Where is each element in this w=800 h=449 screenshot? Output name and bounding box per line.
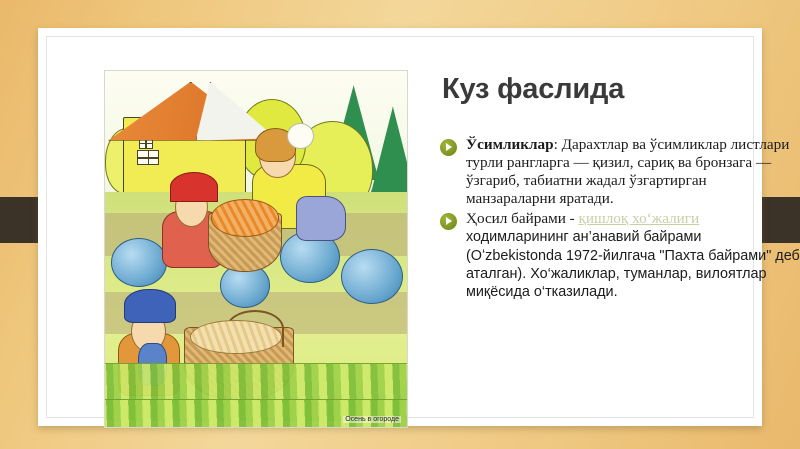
- slide-content-card: Осень в огороде Куз фаслида Ўсимликлар: …: [38, 28, 762, 426]
- bullet-item-harvest-festival: Ҳосил байрами - қишлоқ хо‘жалиги ходимла…: [440, 210, 800, 301]
- bullet-body-after-link: ходимларининг ан’анавий байрами (Oʻzbeki…: [466, 229, 800, 299]
- agriculture-link[interactable]: қишлоқ хо‘жалиги: [579, 210, 700, 227]
- carrots-pile: [211, 199, 279, 237]
- bullet-text-harvest-festival: Ҳосил байрами - қишлоқ хо‘жалиги ходимла…: [466, 210, 800, 301]
- chevron-right-circle-icon: [440, 139, 457, 156]
- bullet-lead-plants: Ўсимликлар: [466, 136, 554, 153]
- bullet-body-before-link: Ҳосил байрами -: [466, 210, 579, 227]
- bullet-text-plants: Ўсимликлар: Дарахтлар ва ўсимликлар лист…: [466, 136, 800, 208]
- vegetable-leaves-row: [104, 399, 408, 428]
- bullet-item-plants: Ўсимликлар: Дарахтлар ва ўсимликлар лист…: [440, 136, 800, 208]
- potatoes-pile: [190, 320, 283, 354]
- bullet-lead-separator: :: [554, 136, 562, 153]
- slide-title: Куз фаслида: [442, 74, 792, 106]
- bullet-list: Ўсимликлар: Дарахтлар ва ўсимликлар лист…: [440, 136, 800, 303]
- cabbage-icon: [341, 249, 403, 304]
- autumn-garden-illustration: Осень в огороде: [104, 70, 408, 428]
- slide: Осень в огороде Куз фаслида Ўсимликлар: …: [0, 0, 800, 449]
- illustration-canvas: Осень в огороде: [105, 71, 407, 427]
- image-caption: Осень в огороде: [343, 416, 401, 423]
- chevron-right-circle-icon: [440, 213, 457, 230]
